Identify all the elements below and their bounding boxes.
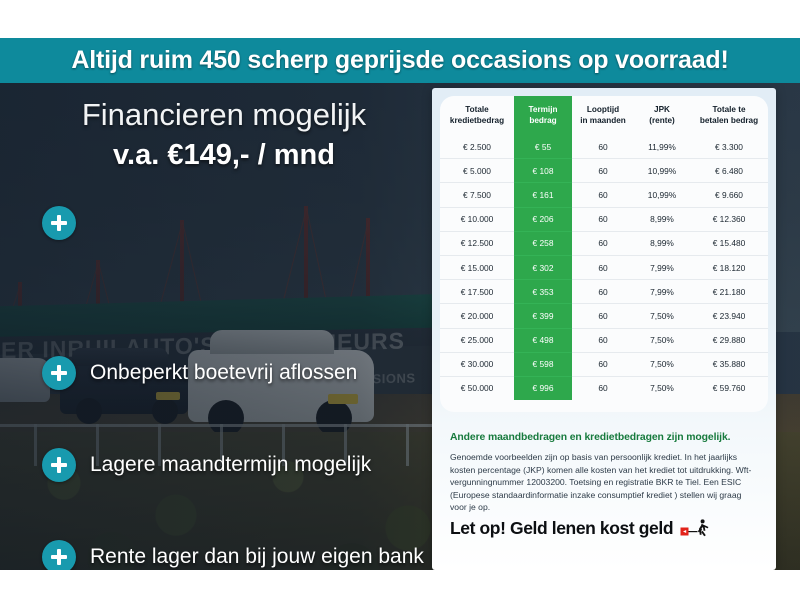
table-cell: € 23.940 — [690, 304, 768, 328]
table-cell: € 258 — [514, 231, 572, 255]
table-cell: € 498 — [514, 328, 572, 352]
plus-icon — [42, 356, 76, 390]
table-cell: € 50.000 — [440, 376, 514, 400]
plus-icon — [42, 448, 76, 482]
bullet-label: Lagere maandtermijn mogelijk — [90, 453, 371, 477]
table-cell: € 55 — [514, 135, 572, 159]
financing-headline-line2: v.a. €149,- / mnd — [24, 136, 424, 174]
table-cell: € 35.880 — [690, 352, 768, 376]
table-cell: € 996 — [514, 376, 572, 400]
column-header-looptijd: Looptijd in maanden — [572, 96, 634, 135]
header-line1: Totale — [465, 105, 489, 114]
financing-rates-table: Totale kredietbedrag Termijn bedrag Loop… — [440, 96, 768, 400]
plus-icon — [42, 540, 76, 574]
disclaimer-block: Andere maandbedragen en kredietbedragen … — [450, 432, 756, 514]
table-cell: € 30.000 — [440, 352, 514, 376]
table-cell: € 6.480 — [690, 159, 768, 183]
header-line1: Totale te — [712, 105, 745, 114]
headline-banner: Altijd ruim 450 scherp geprijsde occasio… — [0, 38, 800, 83]
table-cell: 7,50% — [634, 352, 690, 376]
table-cell: 7,99% — [634, 255, 690, 279]
table-cell: 60 — [572, 135, 634, 159]
table-cell: € 3.300 — [690, 135, 768, 159]
table-row: € 30.000€ 598607,50%€ 35.880 — [440, 352, 768, 376]
financing-headline: Financieren mogelijk v.a. €149,- / mnd — [24, 96, 424, 174]
advertisement-banner: LER INRUILAUTO'S JOHAN MEURS ALTIJD 450 … — [0, 0, 800, 600]
table-cell: 60 — [572, 304, 634, 328]
table-cell: € 353 — [514, 280, 572, 304]
top-white-margin — [0, 0, 800, 38]
promo-bullet-list: Financieren mogelijk v.a. €149,- / mnd O… — [0, 88, 432, 548]
headline-text: Altijd ruim 450 scherp geprijsde occasio… — [71, 46, 728, 75]
table-cell: € 17.500 — [440, 280, 514, 304]
running-man-pulling-block-icon — [680, 519, 710, 538]
table-row: € 15.000€ 302607,99%€ 18.120 — [440, 255, 768, 279]
header-line2: betalen bedrag — [700, 116, 758, 125]
table-cell: 8,99% — [634, 231, 690, 255]
bottom-white-margin — [0, 570, 800, 600]
column-header-totale-te-betalen: Totale te betalen bedrag — [690, 96, 768, 135]
table-cell: € 20.000 — [440, 304, 514, 328]
table-row: € 25.000€ 498607,50%€ 29.880 — [440, 328, 768, 352]
table-cell: € 302 — [514, 255, 572, 279]
table-cell: 60 — [572, 159, 634, 183]
header-line2: (rente) — [649, 116, 674, 125]
table-row: € 12.500€ 258608,99%€ 15.480 — [440, 231, 768, 255]
header-line1: JPK — [654, 105, 670, 114]
table-cell: 8,99% — [634, 207, 690, 231]
table-cell: 60 — [572, 328, 634, 352]
table-cell: € 10.000 — [440, 207, 514, 231]
table-cell: € 5.000 — [440, 159, 514, 183]
column-header-totale-kredietbedrag: Totale kredietbedrag — [440, 96, 514, 135]
table-row: € 20.000€ 399607,50%€ 23.940 — [440, 304, 768, 328]
table-cell: € 2.500 — [440, 135, 514, 159]
column-header-termijn-bedrag: Termijn bedrag — [514, 96, 572, 135]
table-cell: € 25.000 — [440, 328, 514, 352]
table-cell: 7,50% — [634, 376, 690, 400]
table-cell: 60 — [572, 376, 634, 400]
table-cell: € 12.500 — [440, 231, 514, 255]
table-cell: 11,99% — [634, 135, 690, 159]
credit-warning: Let op! Geld lenen kost geld — [450, 518, 710, 539]
rates-table-card: Totale kredietbedrag Termijn bedrag Loop… — [440, 96, 768, 412]
header-line2: kredietbedrag — [450, 116, 504, 125]
table-row: € 5.000€ 1086010,99%€ 6.480 — [440, 159, 768, 183]
bullet-item-financiering — [42, 206, 76, 240]
disclaimer-body: Genoemde voorbeelden zijn op basis van p… — [450, 451, 756, 514]
table-row: € 50.000€ 996607,50%€ 59.760 — [440, 376, 768, 400]
table-header-row: Totale kredietbedrag Termijn bedrag Loop… — [440, 96, 768, 135]
table-cell: € 21.180 — [690, 280, 768, 304]
table-cell: 7,50% — [634, 304, 690, 328]
bullet-label: Rente lager dan bij jouw eigen bank — [90, 545, 424, 569]
plus-icon — [42, 206, 76, 240]
credit-warning-text: Let op! Geld lenen kost geld — [450, 518, 673, 539]
table-cell: € 59.760 — [690, 376, 768, 400]
table-cell: € 108 — [514, 159, 572, 183]
table-cell: 10,99% — [634, 183, 690, 207]
table-row: € 7.500€ 1616010,99%€ 9.660 — [440, 183, 768, 207]
bullet-item-lagere-maandtermijn: Lagere maandtermijn mogelijk — [42, 448, 371, 482]
table-row: € 2.500€ 556011,99%€ 3.300 — [440, 135, 768, 159]
header-line1: Looptijd — [587, 105, 619, 114]
financing-info-card: Totale kredietbedrag Termijn bedrag Loop… — [432, 88, 776, 570]
table-cell: € 12.360 — [690, 207, 768, 231]
disclaimer-title: Andere maandbedragen en kredietbedragen … — [450, 432, 756, 443]
table-cell: € 161 — [514, 183, 572, 207]
table-cell: € 7.500 — [440, 183, 514, 207]
bullet-label: Onbeperkt boetevrij aflossen — [90, 361, 357, 385]
table-row: € 17.500€ 353607,99%€ 21.180 — [440, 280, 768, 304]
table-cell: € 399 — [514, 304, 572, 328]
table-cell: 60 — [572, 280, 634, 304]
table-cell: 60 — [572, 231, 634, 255]
table-cell: 7,99% — [634, 280, 690, 304]
table-row: € 10.000€ 206608,99%€ 12.360 — [440, 207, 768, 231]
table-cell: 7,50% — [634, 328, 690, 352]
table-cell: 60 — [572, 255, 634, 279]
table-cell: € 598 — [514, 352, 572, 376]
table-cell: € 206 — [514, 207, 572, 231]
table-cell: € 15.480 — [690, 231, 768, 255]
column-header-jpk: JPK (rente) — [634, 96, 690, 135]
financing-headline-line1: Financieren mogelijk — [24, 96, 424, 134]
table-cell: € 9.660 — [690, 183, 768, 207]
header-line2: bedrag — [529, 116, 556, 125]
table-cell: € 18.120 — [690, 255, 768, 279]
table-cell: 60 — [572, 183, 634, 207]
table-cell: € 15.000 — [440, 255, 514, 279]
table-cell: 10,99% — [634, 159, 690, 183]
rates-table-body: € 2.500€ 556011,99%€ 3.300€ 5.000€ 10860… — [440, 135, 768, 400]
header-line2: in maanden — [580, 116, 626, 125]
header-line1: Termijn — [529, 105, 558, 114]
table-cell: 60 — [572, 207, 634, 231]
bullet-item-lagere-rente: Rente lager dan bij jouw eigen bank — [42, 540, 424, 574]
table-cell: € 29.880 — [690, 328, 768, 352]
bullet-item-boetevrij-aflossen: Onbeperkt boetevrij aflossen — [42, 356, 357, 390]
table-cell: 60 — [572, 352, 634, 376]
